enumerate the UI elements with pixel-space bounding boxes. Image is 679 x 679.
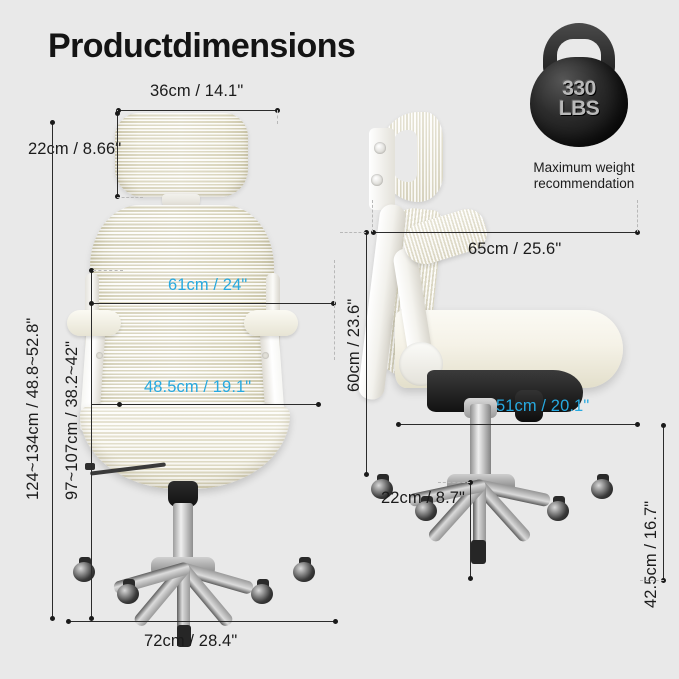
- height-lever-knob: [85, 463, 95, 470]
- dim-backrest-width: 61cm / 24": [168, 276, 247, 295]
- dim-guide: [640, 580, 664, 581]
- dim-endpoint: [316, 402, 321, 407]
- headrest-cutout: [393, 130, 417, 182]
- seat-cushion-front: [80, 405, 290, 489]
- dim-line-overall-depth: [373, 232, 639, 233]
- dim-guide: [372, 200, 373, 232]
- caster-wheel: [293, 557, 318, 582]
- dim-guide: [334, 305, 335, 360]
- caster-wheel: [471, 540, 486, 564]
- dim-line-seat-depth: [398, 424, 638, 425]
- dim-endpoint: [396, 422, 401, 427]
- dim-back-height: 97~107cm / 38.2~42": [63, 341, 82, 500]
- dim-line-seat-height: [663, 425, 664, 582]
- dim-seat-height: 42.5cm / 16.7": [642, 501, 661, 608]
- dim-endpoint: [333, 619, 338, 624]
- dim-headrest-height: 22cm / 8.66": [28, 140, 121, 159]
- dim-seat-depth: 51cm / 20.1": [496, 397, 589, 416]
- dim-endpoint: [50, 616, 55, 621]
- headrest-adjust-pin: [374, 142, 386, 154]
- dim-guide: [277, 110, 278, 124]
- dim-backrest-height-side: 60cm / 23.6": [345, 299, 364, 392]
- armrest-knob-right: [262, 352, 269, 359]
- dim-line-headrest-height: [117, 113, 118, 198]
- dim-guide: [334, 260, 335, 304]
- dim-endpoint: [661, 423, 666, 428]
- headrest-front: [115, 113, 248, 197]
- caster-wheel: [117, 579, 142, 604]
- dim-endpoint: [468, 576, 473, 581]
- dim-base-height: 22cm / 8.7": [381, 489, 465, 508]
- gas-cylinder-front: [173, 503, 193, 565]
- kettlebell-weight-value: 330 LBS: [530, 79, 628, 119]
- page-title: Productdimensions: [48, 27, 355, 66]
- kettlebell-body: 330 LBS: [530, 57, 628, 147]
- dim-headrest-width: 36cm / 14.1": [150, 82, 243, 101]
- dim-line-base-height: [470, 482, 471, 580]
- caster-wheel: [547, 496, 572, 521]
- weight-unit: LBS: [559, 97, 600, 120]
- armrest-pad-right: [244, 310, 298, 336]
- max-weight-caption-line1: Maximum weight: [533, 160, 634, 175]
- headrest-bracket: [369, 128, 395, 210]
- max-weight-kettlebell-icon: 330 LBS: [524, 23, 634, 148]
- product-dimensions-diagram: Productdimensions: [0, 0, 679, 679]
- dim-line-backrest-height-side: [366, 232, 367, 476]
- dim-base-width: 72cm / 28.4": [144, 632, 237, 651]
- dim-guide: [117, 197, 143, 198]
- caster-wheel: [591, 474, 616, 499]
- gas-cylinder-side: [470, 404, 491, 484]
- dim-line-headrest-width: [118, 110, 279, 111]
- dim-endpoint: [117, 402, 122, 407]
- chair-front-view-illustration: [55, 105, 355, 615]
- dim-line-back-height: [91, 270, 92, 620]
- headrest-adjust-pin: [371, 174, 383, 186]
- dim-endpoint: [635, 422, 640, 427]
- dim-guide: [438, 482, 470, 483]
- dim-total-height: 124~134cm / 48.8~52.8": [24, 318, 43, 500]
- dim-guide: [340, 232, 366, 233]
- dim-endpoint: [364, 472, 369, 477]
- dim-guide: [637, 200, 638, 232]
- armrest-knob-left: [96, 352, 103, 359]
- dim-line-seat-width: [92, 404, 320, 405]
- dim-endpoint: [89, 301, 94, 306]
- dim-line-backrest-width: [92, 303, 335, 304]
- dim-guide: [93, 270, 123, 271]
- dim-endpoint: [115, 111, 120, 116]
- dim-endpoint: [50, 120, 55, 125]
- dim-line-base-width: [68, 621, 336, 622]
- dim-seat-width: 48.5cm / 19.1": [144, 378, 251, 397]
- dim-overall-depth: 65cm / 25.6": [468, 240, 561, 259]
- caster-wheel: [251, 579, 276, 604]
- max-weight-caption: Maximum weight recommendation: [504, 160, 664, 192]
- dim-line-total-height: [52, 122, 53, 620]
- caster-wheel: [73, 557, 98, 582]
- dim-endpoint: [66, 619, 71, 624]
- max-weight-caption-line2: recommendation: [534, 176, 635, 191]
- armrest-pad-left: [67, 310, 121, 336]
